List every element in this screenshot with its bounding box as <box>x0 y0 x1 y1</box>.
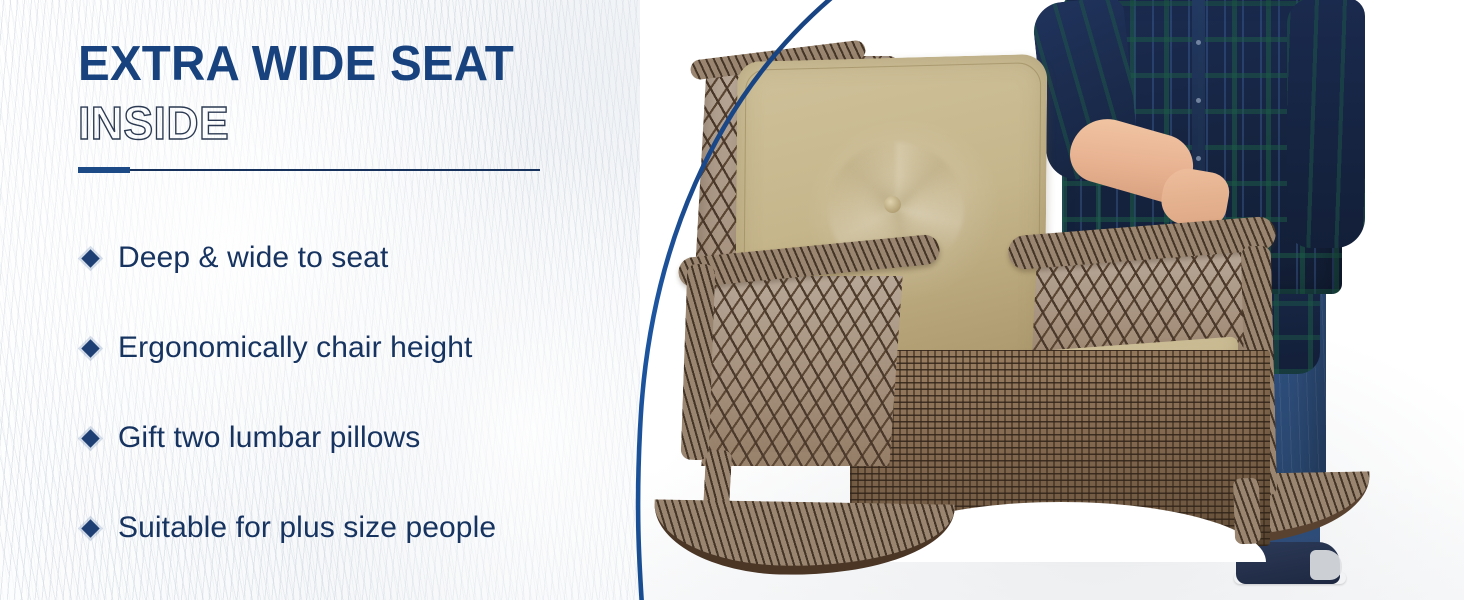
list-item: Ergonomically chair height <box>84 328 496 368</box>
feature-label: Ergonomically chair height <box>118 331 472 365</box>
feature-label: Deep & wide to seat <box>118 241 388 275</box>
product-photo-area <box>640 0 1464 600</box>
divider-line <box>78 169 540 171</box>
cushion-tufted-button <box>884 196 901 213</box>
shirt-button <box>1196 40 1201 45</box>
copy-block: EXTRA WIDE SEAT INSIDE <box>78 40 598 173</box>
diamond-bullet-icon <box>81 249 99 267</box>
list-item: Gift two lumbar pillows <box>84 418 496 458</box>
feature-label: Suitable for plus size people <box>118 511 496 545</box>
chair-front-right-leg <box>1233 478 1261 545</box>
chair-near-arm-panel <box>701 276 902 466</box>
product-feature-banner: EXTRA WIDE SEAT INSIDE Deep & wide to se… <box>0 0 1464 600</box>
divider-accent-segment <box>78 167 130 173</box>
page-title: EXTRA WIDE SEAT <box>78 40 582 90</box>
title-divider <box>78 167 540 173</box>
feature-label: Gift two lumbar pillows <box>118 421 420 455</box>
diamond-bullet-icon <box>81 429 99 447</box>
diamond-bullet-icon <box>81 519 99 537</box>
rocker-runner-left <box>653 499 954 577</box>
diamond-bullet-icon <box>81 339 99 357</box>
list-item: Suitable for plus size people <box>84 508 496 548</box>
feature-list: Deep & wide to seat Ergonomically chair … <box>84 238 496 548</box>
page-subtitle: INSIDE <box>78 100 582 146</box>
list-item: Deep & wide to seat <box>84 238 496 278</box>
wicker-rocking-chair <box>678 50 1338 575</box>
